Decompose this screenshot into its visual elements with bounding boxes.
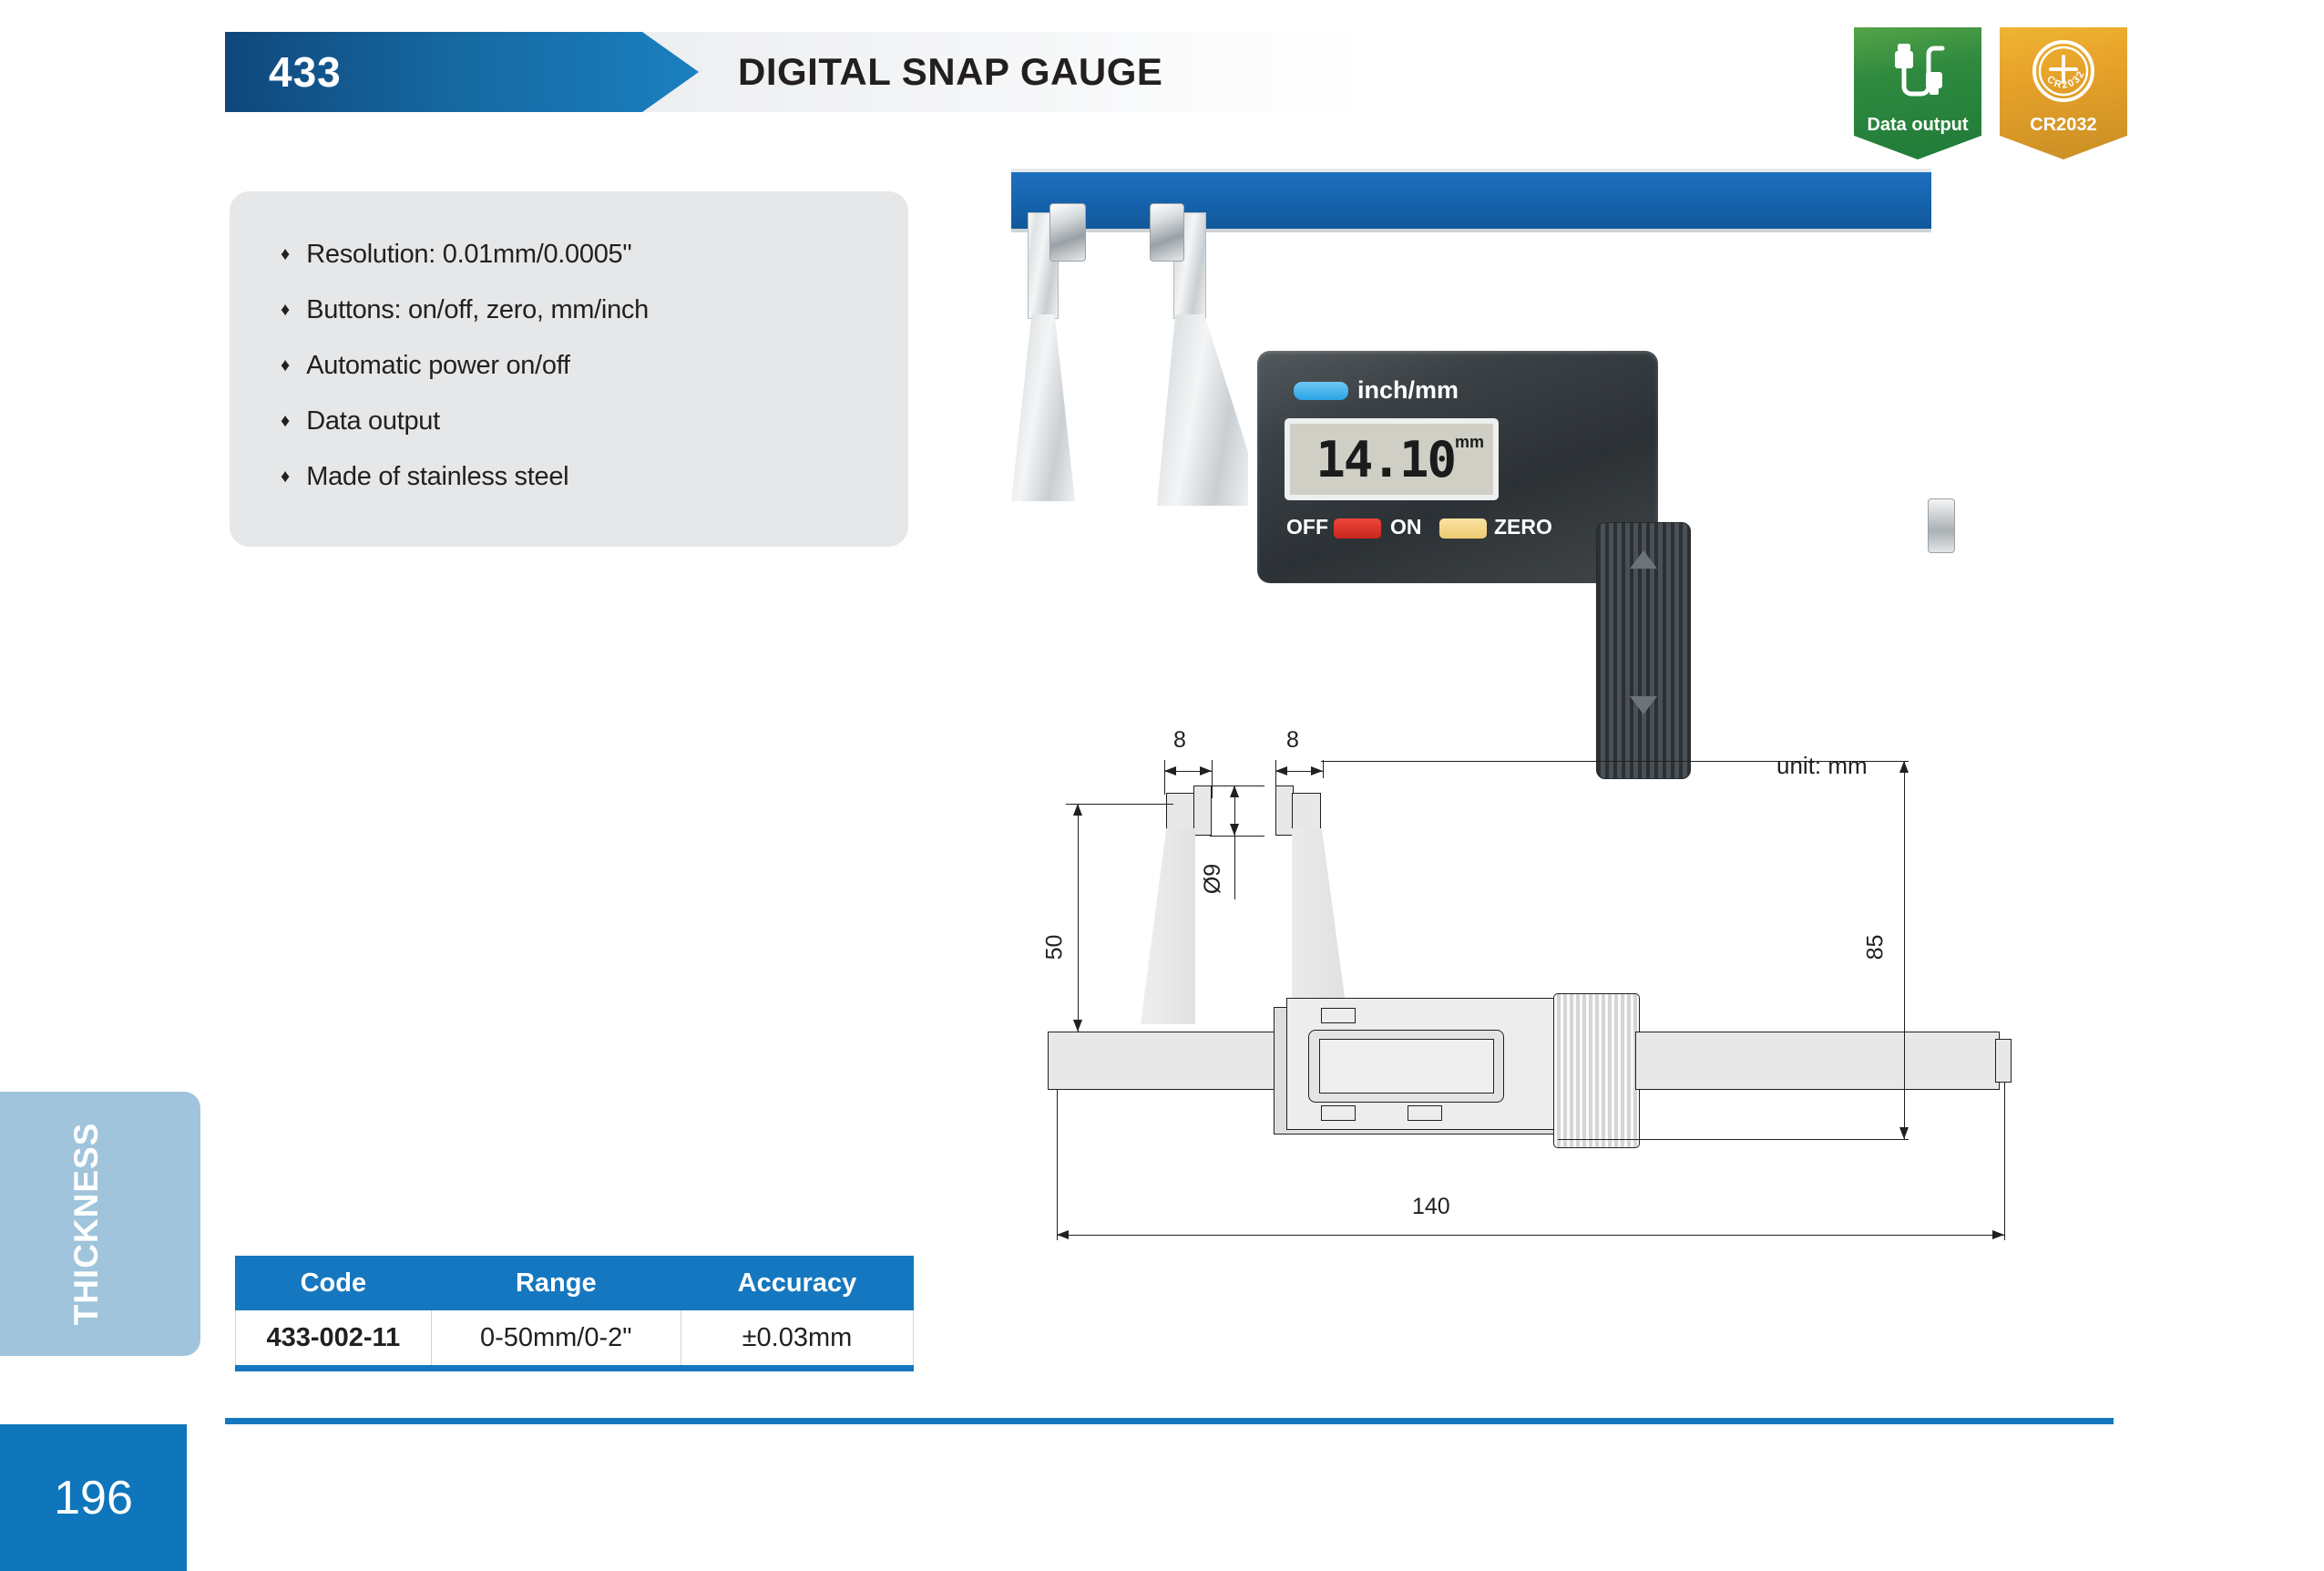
- drawing-right-jaw-top: [1292, 793, 1321, 829]
- diamond-bullet-icon: ♦: [281, 461, 290, 492]
- feature-text: Automatic power on/off: [306, 350, 569, 381]
- dim-total-length: 140: [1412, 1194, 1450, 1220]
- dim-jaw-width-right: 8: [1286, 727, 1299, 754]
- dim-line-50: [1078, 804, 1079, 1032]
- drawing-lcd-inner: [1319, 1039, 1494, 1094]
- badge-battery-label: CR2032: [2030, 115, 2096, 159]
- zero-button[interactable]: [1439, 519, 1487, 539]
- digital-readout-head: inch/mm 14.10 mm OFF ON ZERO: [1257, 351, 1658, 583]
- drawing-right-anvil: [1275, 785, 1294, 836]
- feature-item: ♦ Automatic power on/off: [281, 350, 908, 381]
- ext-line: [1164, 760, 1165, 795]
- feature-item: ♦ Resolution: 0.01mm/0.0005": [281, 239, 908, 270]
- drawing-beam-right: [1635, 1032, 2000, 1090]
- right-anvil: [1150, 203, 1184, 262]
- on-label: ON: [1390, 515, 1422, 539]
- right-jaw-taper: [1157, 314, 1248, 506]
- features-panel: ♦ Resolution: 0.01mm/0.0005" ♦ Buttons: …: [230, 191, 908, 547]
- feature-text: Buttons: on/off, zero, mm/inch: [306, 294, 649, 325]
- feature-text: Data output: [306, 406, 440, 436]
- column-header-range: Range: [431, 1257, 681, 1310]
- cell-code: 433-002-11: [236, 1310, 432, 1368]
- off-label: OFF: [1286, 515, 1328, 539]
- table-header-row: Code Range Accuracy: [236, 1257, 914, 1310]
- cell-accuracy: ±0.03mm: [681, 1310, 913, 1368]
- page-number-box: 196: [0, 1424, 187, 1571]
- drawing-beam-end-cap: [1995, 1039, 2012, 1083]
- drawing-beam-left: [1048, 1032, 1285, 1090]
- category-tab-label: THICKNESS: [67, 1123, 106, 1326]
- inch-mm-label: inch/mm: [1357, 376, 1459, 405]
- left-jaw-taper: [1011, 314, 1075, 501]
- diamond-bullet-icon: ♦: [281, 406, 290, 436]
- drawing-left-jaw-top: [1166, 793, 1195, 829]
- beam-end-cap: [1928, 498, 1955, 553]
- table-row: 433-002-11 0-50mm/0-2" ±0.03mm: [236, 1310, 914, 1368]
- ext-line: [1323, 760, 1324, 778]
- category-tab-thickness[interactable]: THICKNESS: [0, 1092, 200, 1356]
- feature-item: ♦ Made of stainless steel: [281, 461, 908, 492]
- dim-arrow: [1164, 766, 1176, 775]
- ext-line: [1057, 1090, 1058, 1240]
- on-off-button[interactable]: [1334, 519, 1381, 539]
- product-photo: ACCUD inch/mm 14.10 mm OFF ON ZERO: [1011, 169, 2013, 715]
- usb-cable-icon: [1854, 27, 1981, 115]
- feature-item: ♦ Data output: [281, 406, 908, 436]
- dim-line-85: [1904, 761, 1905, 1139]
- ext-line: [2004, 1083, 2005, 1240]
- dim-arrow: [1899, 1127, 1909, 1139]
- footer-rule: [225, 1418, 2114, 1424]
- column-header-accuracy: Accuracy: [681, 1257, 913, 1310]
- roller-down-arrow-icon: [1630, 696, 1657, 714]
- ext-line: [1558, 1139, 1909, 1140]
- technical-drawing: unit: mm 8 8 Ø9 50 85 1: [1048, 738, 2168, 1303]
- roller-up-arrow-icon: [1630, 550, 1657, 569]
- dim-jaw-width-left: 8: [1173, 727, 1186, 754]
- inch-mm-button[interactable]: [1294, 382, 1348, 400]
- badge-data-output: Data output: [1854, 27, 1981, 159]
- feature-text: Resolution: 0.01mm/0.0005": [306, 239, 631, 270]
- drawing-right-jaw-body: [1292, 828, 1348, 1024]
- lcd-value: 14.10: [1316, 431, 1455, 488]
- ext-line: [1210, 785, 1264, 786]
- dim-jaw-depth: 50: [1041, 935, 1068, 960]
- product-code-arrow: 433: [225, 32, 699, 112]
- drawing-thumb-roller: [1553, 993, 1640, 1148]
- dim-arrow: [1073, 1020, 1082, 1032]
- ext-line: [1212, 760, 1213, 798]
- page-number: 196: [54, 1471, 133, 1525]
- dim-arrow: [1992, 1230, 2004, 1239]
- coin-battery-icon: CR2032: [2000, 27, 2127, 115]
- table-bottom-rule: [235, 1367, 914, 1371]
- ext-line: [1234, 836, 1235, 899]
- specification-table: Code Range Accuracy 433-002-11 0-50mm/0-…: [235, 1256, 914, 1369]
- drawing-button-top: [1321, 1008, 1356, 1023]
- dim-arrow: [1230, 785, 1239, 797]
- cell-range: 0-50mm/0-2": [431, 1310, 681, 1368]
- page-title: DIGITAL SNAP GAUGE: [738, 42, 1376, 102]
- badge-data-output-label: Data output: [1867, 115, 1968, 159]
- drawing-button-right: [1408, 1105, 1442, 1121]
- zero-label: ZERO: [1494, 515, 1552, 539]
- drawing-button-left: [1321, 1105, 1356, 1121]
- diamond-bullet-icon: ♦: [281, 350, 290, 381]
- left-anvil: [1049, 203, 1086, 262]
- dim-anvil-diameter: Ø9: [1200, 864, 1226, 894]
- dim-arrow: [1073, 804, 1082, 816]
- lcd-display: 14.10 mm: [1285, 418, 1499, 500]
- dim-arrow: [1200, 766, 1212, 775]
- drawing-left-anvil: [1193, 785, 1212, 836]
- dim-arrow: [1057, 1230, 1069, 1239]
- ext-line: [1066, 804, 1173, 805]
- diamond-bullet-icon: ♦: [281, 294, 290, 325]
- ext-line: [1210, 836, 1264, 837]
- unit-note: unit: mm: [1776, 752, 1868, 780]
- drawing-left-jaw-body: [1141, 828, 1195, 1024]
- dim-total-height: 85: [1862, 935, 1889, 960]
- lcd-unit: mm: [1455, 433, 1484, 452]
- diamond-bullet-icon: ♦: [281, 239, 290, 270]
- feature-text: Made of stainless steel: [306, 461, 568, 492]
- feature-item: ♦ Buttons: on/off, zero, mm/inch: [281, 294, 908, 325]
- ext-line: [1321, 761, 1909, 762]
- dim-arrow: [1275, 766, 1287, 775]
- product-code: 433: [269, 47, 342, 97]
- dim-line-140: [1057, 1235, 2004, 1236]
- dim-arrow: [1899, 761, 1909, 773]
- column-header-code: Code: [236, 1257, 432, 1310]
- dim-arrow: [1230, 824, 1239, 836]
- dim-arrow: [1311, 766, 1323, 775]
- badge-battery: CR2032 CR2032: [2000, 27, 2127, 159]
